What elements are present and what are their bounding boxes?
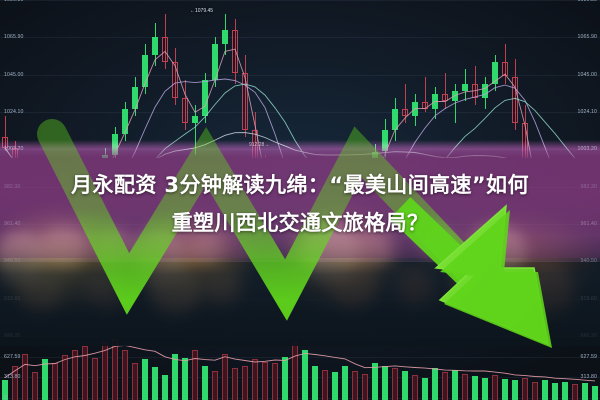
axis-tick-label: 1086.80 bbox=[4, 0, 23, 3]
axis-tick-label: 313.80 bbox=[581, 374, 597, 380]
volume-moving-average bbox=[5, 345, 595, 381]
headline-line-2: 重塑川西北交通文旅格局？ bbox=[0, 204, 600, 242]
axis-tick-label: 1065.90 bbox=[578, 34, 597, 40]
axis-tick-label: 1024.10 bbox=[578, 109, 597, 115]
screenshot-root: 1086.801065.901045.001024.101003.20982.3… bbox=[0, 0, 600, 400]
axis-tick-label: 1086.80 bbox=[578, 0, 597, 3]
headline-block: 月永配资 3分钟解读九绵：“最美山间高速”如何 重塑川西北交通文旅格局？ bbox=[0, 166, 600, 242]
headline-line-1: 月永配资 3分钟解读九绵：“最美山间高速”如何 bbox=[71, 173, 529, 197]
axis-tick-label: 1065.90 bbox=[4, 34, 23, 40]
axis-tick-label: 0 bbox=[4, 395, 7, 400]
price-chart-panel bbox=[0, 0, 600, 158]
axis-tick-label: 1045.00 bbox=[4, 72, 23, 78]
axis-tick-label: 627.59 bbox=[4, 354, 20, 360]
axis-tick-label: 627.59 bbox=[581, 354, 597, 360]
moving-average-lines bbox=[0, 0, 600, 158]
axis-tick-label: 1045.00 bbox=[578, 72, 597, 78]
high-price-marker: ←1079.45 bbox=[190, 8, 213, 14]
axis-tick-label: 1024.10 bbox=[4, 109, 23, 115]
axis-tick-label: 313.80 bbox=[4, 374, 20, 380]
